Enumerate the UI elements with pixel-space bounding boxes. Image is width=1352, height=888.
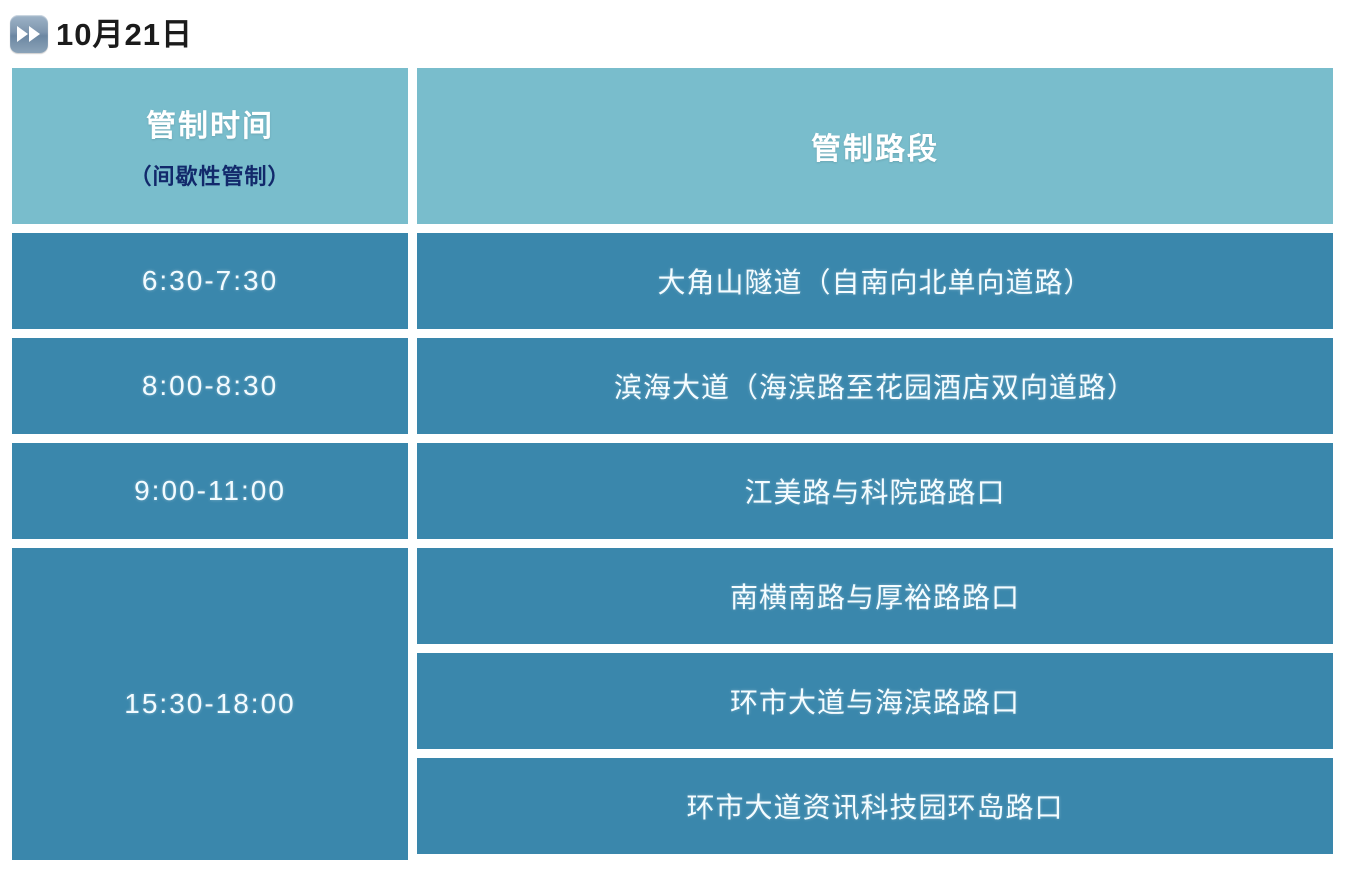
column-header-control-road: 管制路段 (417, 68, 1333, 224)
page-title: 10月21日 (56, 19, 193, 50)
control-road-column: 管制路段 大角山隧道（自南向北单向道路） 滨海大道（海滨路至花园酒店双向道路） … (417, 68, 1333, 860)
column-header-control-road-title: 管制路段 (811, 124, 939, 168)
table-cell-time-merged: 15:30-18:00 (12, 548, 408, 860)
table-cell-road: 江美路与科院路路口 (417, 443, 1333, 539)
table-cell-road: 大角山隧道（自南向北单向道路） (417, 233, 1333, 329)
table-cell-road: 滨海大道（海滨路至花园酒店双向道路） (417, 338, 1333, 434)
column-header-control-time-subtitle: （间歇性管制） (129, 159, 290, 191)
table-cell-road: 环市大道资讯科技园环岛路口 (417, 758, 1333, 854)
table-cell-time: 9:00-11:00 (12, 443, 408, 539)
table-cell-road: 环市大道与海滨路路口 (417, 653, 1333, 749)
column-header-control-time: 管制时间 （间歇性管制） (12, 68, 408, 224)
column-header-control-time-title: 管制时间 (146, 101, 274, 145)
control-time-column: 管制时间 （间歇性管制） 6:30-7:30 8:00-8:30 9:00-11… (12, 68, 408, 860)
table-cell-time: 6:30-7:30 (12, 233, 408, 329)
page-header: 10月21日 (0, 0, 1352, 68)
table-cell-road: 南横南路与厚裕路路口 (417, 548, 1333, 644)
fast-forward-icon (10, 15, 48, 53)
table-cell-time: 8:00-8:30 (12, 338, 408, 434)
traffic-control-table: 管制时间 （间歇性管制） 6:30-7:30 8:00-8:30 9:00-11… (12, 68, 1333, 860)
